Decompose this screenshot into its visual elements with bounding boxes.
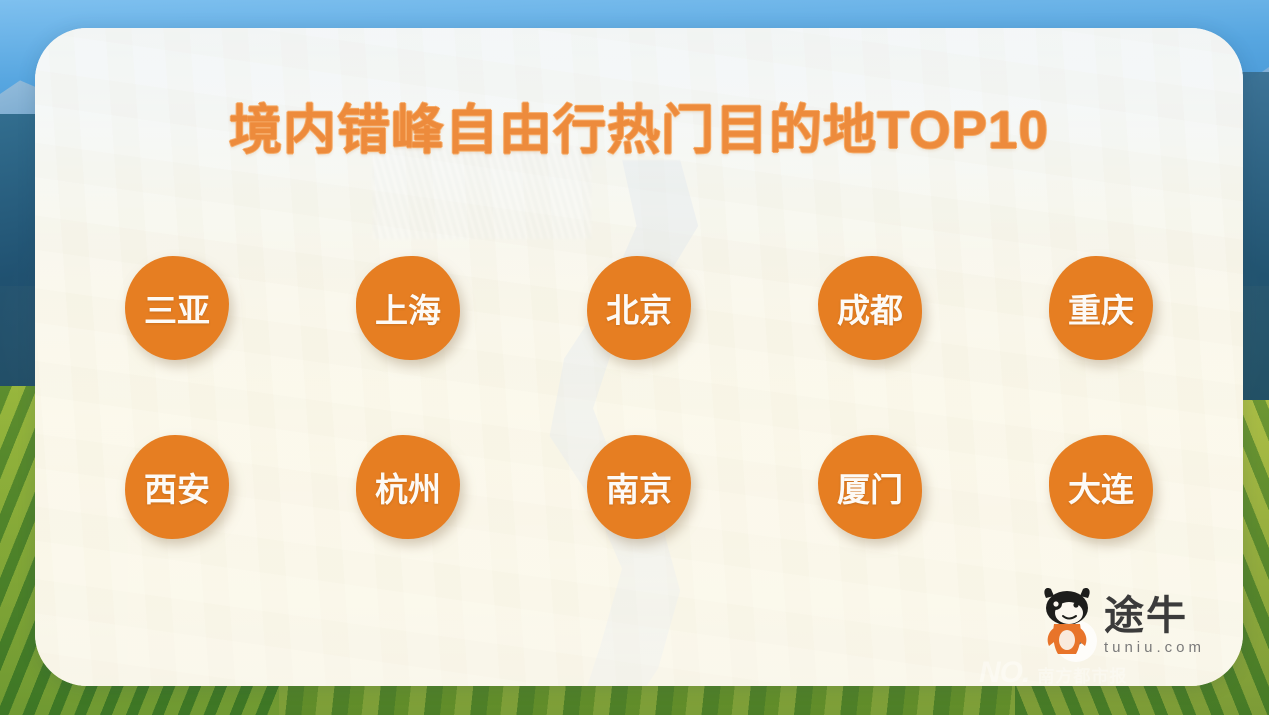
destination-badge-7[interactable]: 杭州 — [356, 435, 460, 539]
page-title: 境内错峰自由行热门目的地TOP10 — [35, 104, 1243, 157]
destination-badge-2[interactable]: 上海 — [356, 256, 460, 360]
destination-row-2: 西安 杭州 南京 厦门 大连 — [125, 435, 1153, 539]
destination-label: 上海 — [375, 284, 441, 332]
destination-label: 成都 — [837, 284, 903, 332]
destination-label: 厦门 — [837, 463, 903, 511]
destination-row-1: 三亚 上海 北京 成都 重庆 — [125, 256, 1153, 360]
brand-logo: 途牛 tuniu.com — [1038, 584, 1205, 656]
destination-label: 大连 — [1068, 463, 1134, 511]
infographic-stage: 境内错峰自由行热门目的地TOP10 三亚 上海 北京 成都 重庆 — [0, 0, 1269, 715]
destination-badge-6[interactable]: 西安 — [125, 435, 229, 539]
destination-badge-5[interactable]: 重庆 — [1049, 256, 1153, 360]
destination-badge-10[interactable]: 大连 — [1049, 435, 1153, 539]
destination-badge-1[interactable]: 三亚 — [125, 256, 229, 360]
destination-label: 北京 — [606, 284, 672, 332]
destination-badge-8[interactable]: 南京 — [587, 435, 691, 539]
brand-name-en: tuniu.com — [1104, 639, 1205, 656]
destination-label: 南京 — [606, 463, 672, 511]
destination-badge-grid: 三亚 上海 北京 成都 重庆 西安 — [125, 256, 1153, 539]
brand-name-cn: 途牛 — [1104, 597, 1188, 636]
destination-badge-3[interactable]: 北京 — [587, 256, 691, 360]
cow-mascot-icon — [1038, 584, 1096, 656]
destination-badge-4[interactable]: 成都 — [818, 256, 922, 360]
brand-logo-text: 途牛 tuniu.com — [1104, 597, 1205, 656]
destination-label: 西安 — [144, 463, 210, 511]
destination-label: 三亚 — [144, 284, 210, 332]
destination-label: 重庆 — [1068, 284, 1134, 332]
content-card: 境内错峰自由行热门目的地TOP10 三亚 上海 北京 成都 重庆 — [35, 28, 1243, 686]
destination-label: 杭州 — [375, 463, 441, 511]
destination-badge-9[interactable]: 厦门 — [818, 435, 922, 539]
